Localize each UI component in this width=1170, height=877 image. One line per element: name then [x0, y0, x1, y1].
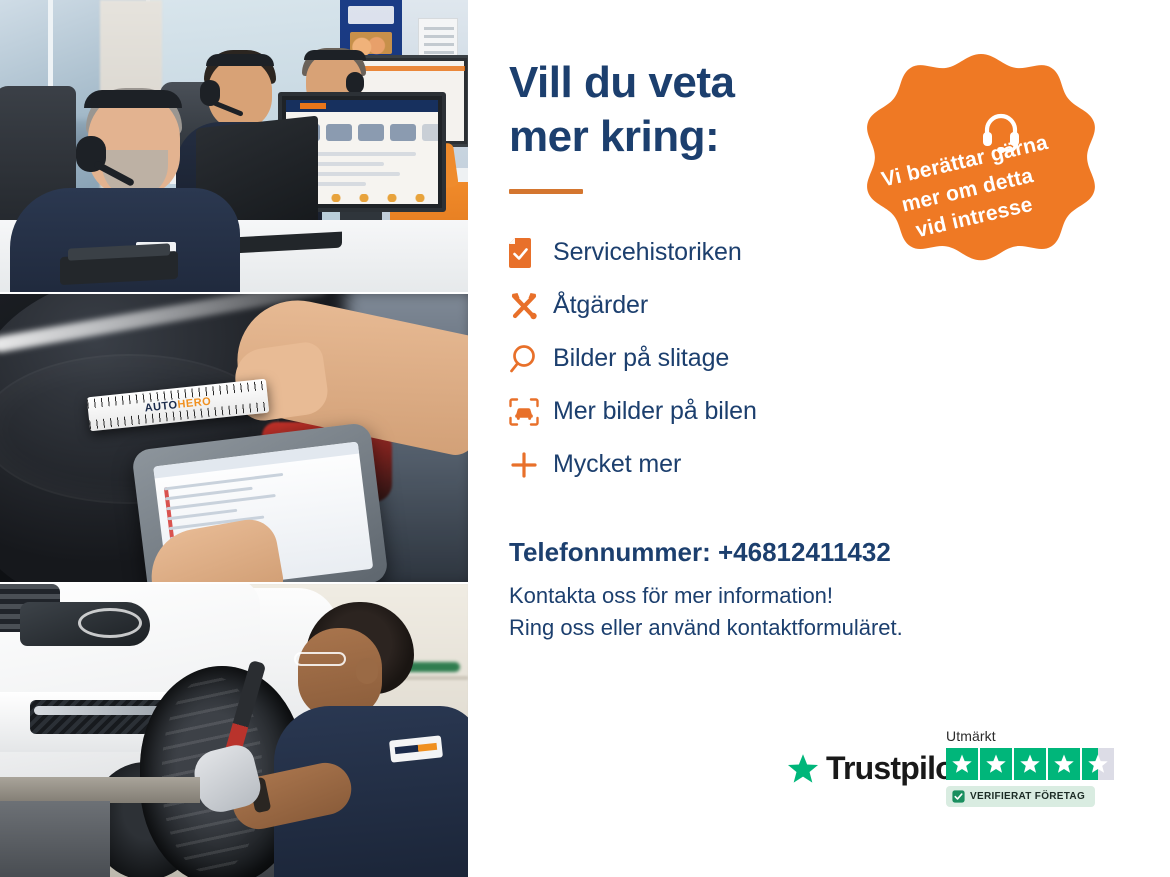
- verified-badge: VERIFIERAT FÖRETAG: [946, 786, 1095, 807]
- star-rating: [946, 748, 1126, 780]
- plus-icon: [509, 450, 553, 480]
- page-title: Vill du veta mer kring:: [509, 56, 839, 163]
- rating-label: Utmärkt: [946, 728, 1126, 744]
- call-center-agents-photo: [0, 0, 468, 292]
- feature-label: Åtgärder: [553, 291, 648, 320]
- trustpilot-star-icon: [786, 752, 820, 786]
- promo-page: AUTOHERO: [0, 0, 1170, 877]
- document-check-icon: [509, 238, 553, 268]
- verified-label: VERIFIERAT FÖRETAG: [970, 791, 1085, 802]
- star-filled: [1014, 748, 1046, 780]
- car-scan-icon: [509, 398, 553, 426]
- photo-collage: AUTOHERO: [0, 0, 468, 877]
- trustpilot-widget[interactable]: Trustpilot Utmärkt: [786, 728, 1126, 820]
- feature-label: Bilder på slitage: [553, 344, 729, 373]
- trustpilot-logo: Trustpilot: [786, 750, 964, 787]
- magnifier-icon: [509, 344, 553, 374]
- star-filled: [946, 748, 978, 780]
- headline-line-1: Vill du veta: [509, 58, 735, 107]
- star-filled: [980, 748, 1012, 780]
- feature-label: Mycket mer: [553, 450, 681, 479]
- contact-line-2: Ring oss eller använd kontaktformuläret.: [509, 612, 1130, 643]
- star-filled: [1048, 748, 1080, 780]
- star-half: [1082, 748, 1114, 780]
- mechanic-wheel-inspection-photo: [0, 584, 468, 877]
- title-divider: [509, 189, 583, 194]
- list-item: Bilder på slitage: [509, 332, 1130, 385]
- list-item: Mycket mer: [509, 438, 1130, 491]
- contact-line-1: Kontakta oss för mer information!: [509, 580, 1130, 611]
- headline-line-2: mer kring:: [509, 110, 839, 164]
- car-inspection-ruler-photo: AUTOHERO: [0, 294, 468, 582]
- callout-badge: Vi berättar gärna mer om detta vid intre…: [862, 52, 1100, 300]
- trustpilot-rating: Utmärkt: [946, 728, 1126, 808]
- wrench-screwdriver-icon: [509, 291, 553, 321]
- verified-check-icon: [952, 790, 965, 803]
- trustpilot-brand: Trustpilot: [826, 750, 964, 787]
- list-item: Mer bilder på bilen: [509, 385, 1130, 438]
- phone-number[interactable]: Telefonnummer: +46812411432: [509, 537, 1130, 568]
- contact-block: Telefonnummer: +46812411432 Kontakta oss…: [509, 537, 1130, 642]
- feature-label: Servicehistoriken: [553, 238, 742, 267]
- feature-label: Mer bilder på bilen: [553, 397, 757, 426]
